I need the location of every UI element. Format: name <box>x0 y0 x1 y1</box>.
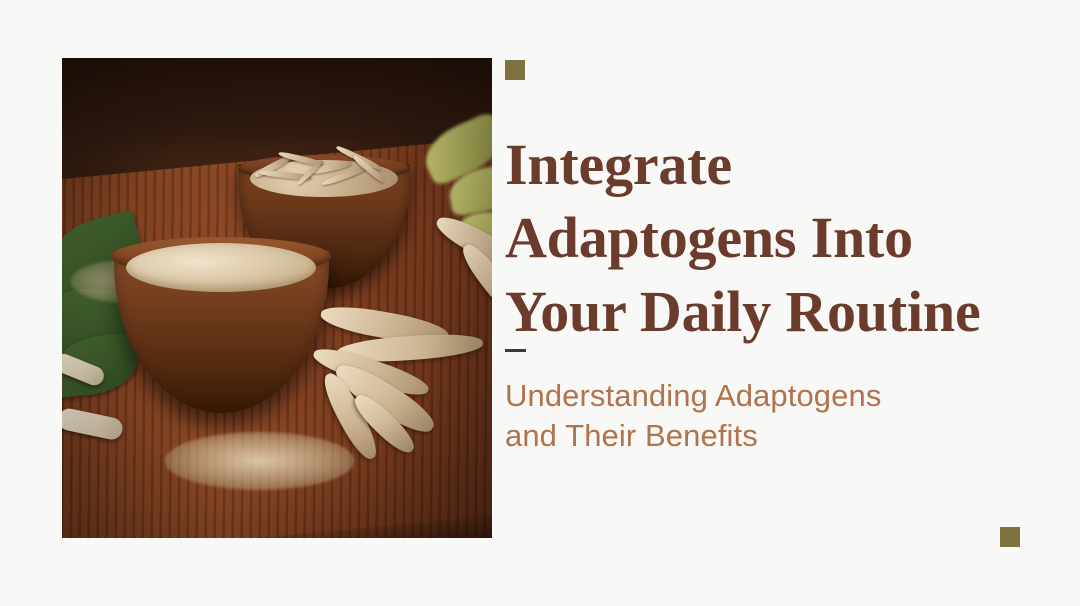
root-pile <box>247 151 402 193</box>
photo-canvas <box>62 58 492 538</box>
accent-square-top <box>505 60 525 80</box>
text-block: Integrate Adaptogens Into Your Daily Rou… <box>505 128 1035 348</box>
slide-canvas: Integrate Adaptogens Into Your Daily Rou… <box>0 0 1080 606</box>
accent-square-bottom <box>1000 527 1020 547</box>
divider-dash <box>505 349 526 352</box>
page-title: Integrate Adaptogens Into Your Daily Rou… <box>505 128 1035 348</box>
page-subtitle: Understanding Adaptogens and Their Benef… <box>505 376 1025 457</box>
ashwagandha-photo <box>62 58 492 538</box>
spilled-powder <box>165 432 354 490</box>
ashwagandha-powder <box>126 243 315 292</box>
